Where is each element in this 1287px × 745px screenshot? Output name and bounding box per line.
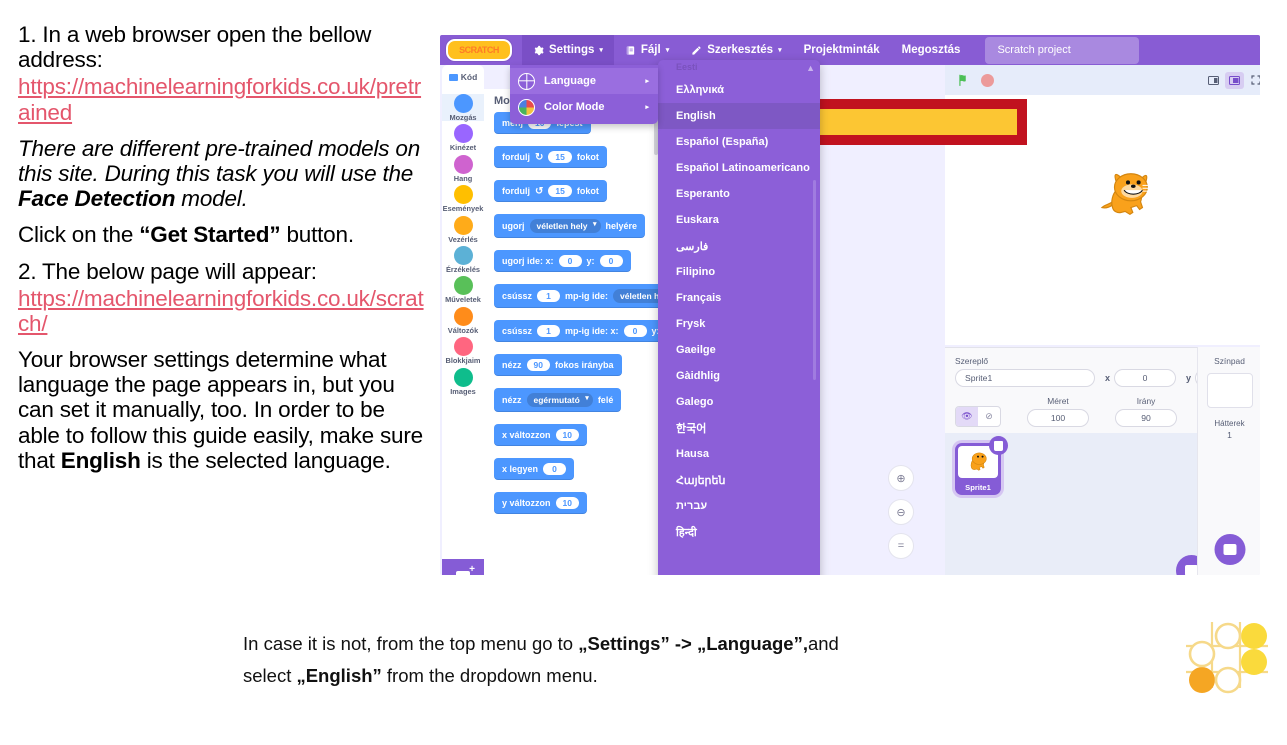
direction-label: Irány	[1137, 396, 1156, 406]
x-label: x	[1105, 373, 1110, 383]
motion-block[interactable]: ugorj ide: x:0y:0	[494, 250, 631, 272]
motion-block[interactable]: x változzon10	[494, 424, 587, 446]
category-color-dot	[454, 94, 473, 113]
language-item-[interactable]: हिन्दी	[658, 519, 820, 545]
zoom-in-icon[interactable]: ⊕	[888, 465, 914, 491]
language-item-filipino[interactable]: Filipino	[658, 259, 820, 285]
get-started-instruction: Click on the “Get Started” button.	[18, 222, 430, 247]
category-color-dot	[454, 185, 473, 204]
backdrops-count: 1	[1198, 430, 1260, 440]
sprite-name-row: Szereplő Sprite1 x 0 y 0	[945, 348, 1197, 387]
motion-block[interactable]: y változzon10	[494, 492, 587, 514]
block-dropdown[interactable]: véletlen hely	[530, 219, 601, 233]
category-label: Érzékelés	[442, 266, 484, 273]
color-wheel-icon	[518, 99, 535, 116]
size-label: Méret	[1047, 396, 1068, 406]
workspace-zoom-controls: ⊕⊖=	[888, 465, 914, 559]
sprite-card[interactable]: Sprite1	[955, 443, 1001, 495]
block-text: y:	[587, 256, 595, 266]
block-text: helyére	[606, 221, 638, 231]
block-text: fokos irányba	[555, 360, 614, 370]
cat-sprite[interactable]	[1099, 167, 1157, 223]
caption-english: „English”	[296, 665, 381, 686]
english-bold: English	[61, 448, 141, 473]
settings-dropdown: Language ▸ Color Mode ▸	[510, 65, 658, 124]
motion-block[interactable]: fordulj↻15fokot	[494, 146, 607, 168]
category-label: Műveletek	[442, 296, 484, 303]
motion-block[interactable]: fordulj↺15fokot	[494, 180, 607, 202]
rotate-icon: ↺	[535, 186, 543, 197]
sprite-size-input[interactable]: 100	[1027, 409, 1089, 427]
block-text: fordulj	[502, 186, 530, 196]
browser-post: is the selected language.	[141, 448, 391, 473]
block-text: ugorj ide: x:	[502, 256, 554, 266]
block-text: x változzon	[502, 430, 551, 440]
motion-block[interactable]: csússz1mp-ig ide:véletlen hely	[494, 284, 660, 308]
large-stage-icon[interactable]	[1225, 72, 1244, 89]
stop-icon[interactable]	[981, 74, 994, 87]
sprite-name-field-wrap: Szereplő Sprite1	[955, 356, 1095, 387]
green-flag-icon[interactable]	[957, 73, 971, 87]
sprite-visibility-toggle[interactable]: 👁 ⊘	[955, 406, 1001, 427]
sprite-direction-input[interactable]: 90	[1115, 409, 1177, 427]
backdrop-thumbnail[interactable]	[1207, 373, 1253, 408]
sprite-x-input[interactable]: 0	[1114, 369, 1176, 387]
language-item-[interactable]: Ελληνικά	[658, 77, 820, 103]
palette-block: csússz1mp-ig ide: x:0y:0	[484, 320, 660, 354]
sprite-attributes-row: 👁 ⊘ Méret 100 Irány 90	[945, 387, 1197, 427]
note-bold: Face Detection	[18, 186, 175, 211]
stage-panel-title: Színpad	[1198, 356, 1260, 366]
block-text: ugorj	[502, 221, 525, 231]
palette-block: csússz1mp-ig ide:véletlen hely	[484, 284, 660, 320]
block-dropdown[interactable]: véletlen hely	[613, 289, 660, 303]
category-color-dot	[454, 155, 473, 174]
block-number-input[interactable]: 15	[548, 151, 571, 163]
category-color-dot	[454, 368, 473, 387]
palette-block-list: menj10lépéstfordulj↻15fokotfordulj↺15fok…	[484, 112, 660, 526]
project-name-field[interactable]: Scratch project	[985, 37, 1139, 64]
sprite-size-wrap: Méret 100	[1027, 396, 1089, 427]
rotate-icon: ↻	[535, 152, 543, 163]
scratch-logo: SCRATCH	[446, 39, 512, 61]
language-item-[interactable]: Հայերեն	[658, 467, 820, 493]
note-post: model.	[175, 186, 247, 211]
language-list: ΕλληνικάEnglishEspañol (España)Español L…	[658, 73, 820, 545]
block-number-input[interactable]: 0	[559, 255, 582, 267]
category-label: Hang	[442, 175, 484, 182]
menu-templates-label: Projektminták	[804, 44, 880, 56]
language-item-euskara[interactable]: Euskara	[658, 207, 820, 233]
stage-selector-panel: Színpad Hátterek 1	[1197, 347, 1260, 575]
add-backdrop-button[interactable]	[1214, 534, 1245, 565]
language-item-fran-ais[interactable]: Français	[658, 285, 820, 311]
add-backdrop-icon	[1223, 544, 1236, 555]
category-label: Események	[442, 205, 484, 212]
caption-line1-pre: In case it is not, from the top menu go …	[243, 633, 578, 654]
block-text: y változzon	[502, 498, 551, 508]
language-item-[interactable]: فارسی	[658, 233, 820, 259]
palette-block: ugorjvéletlen helyhelyére	[484, 214, 660, 250]
palette-block: nézzegérmutatófelé	[484, 388, 660, 424]
gear-icon	[533, 45, 544, 56]
motion-block[interactable]: ugorjvéletlen helyhelyére	[494, 214, 645, 238]
motion-block[interactable]: x legyen0	[494, 458, 574, 480]
motion-block[interactable]: nézz90fokos irányba	[494, 354, 622, 376]
pretrained-link[interactable]: https://machinelearningforkids.co.uk/pre…	[18, 74, 430, 124]
block-number-input[interactable]: 1	[537, 290, 560, 302]
dropdown-color-mode-label: Color Mode	[544, 101, 605, 113]
block-category-kin-zet[interactable]: Kinézet	[442, 124, 484, 151]
category-label: Images	[442, 388, 484, 395]
instruction-column: 1. In a web browser open the bellow addr…	[18, 22, 430, 484]
block-text: csússz	[502, 326, 532, 336]
category-label: Blokkjaim	[442, 357, 484, 364]
block-text: fordulj	[502, 152, 530, 162]
scroll-up-icon[interactable]: ▲	[806, 63, 815, 73]
block-number-input[interactable]: 90	[527, 359, 550, 371]
menu-share-label: Megosztás	[902, 44, 961, 56]
category-color-dot	[454, 124, 473, 143]
note-pre: There are different pre-trained models o…	[18, 136, 420, 186]
language-item-esperanto[interactable]: Esperanto	[658, 181, 820, 207]
caption-line2-pre: select	[243, 665, 296, 686]
fullscreen-icon[interactable]	[1246, 72, 1260, 89]
block-category-mozg-s[interactable]: Mozgás	[442, 94, 484, 121]
browser-settings-note: Your browser settings determine what lan…	[18, 347, 430, 473]
language-item-hausa[interactable]: Hausa	[658, 441, 820, 467]
language-item-galego[interactable]: Galego	[658, 389, 820, 415]
category-color-dot	[454, 337, 473, 356]
caption-line1-post: and	[808, 633, 839, 654]
decorative-dots-logo	[1182, 620, 1278, 716]
menu-item-share[interactable]: Megosztás	[891, 35, 972, 65]
category-label: Vezérlés	[442, 236, 484, 243]
add-extension-icon	[456, 571, 470, 576]
block-category--rz-kel-s[interactable]: Érzékelés	[442, 246, 484, 273]
block-text: nézz	[502, 360, 522, 370]
block-text: fokot	[577, 186, 599, 196]
file-icon	[625, 45, 636, 56]
code-icon	[449, 74, 458, 81]
step-1-text: 1. In a web browser open the bellow addr…	[18, 22, 430, 72]
language-item-espa-ol-latinoamericano[interactable]: Español Latinoamericano	[658, 155, 820, 181]
block-category-hang[interactable]: Hang	[442, 155, 484, 182]
eye-visible-icon[interactable]: 👁	[956, 407, 978, 426]
block-category-esem-nyek[interactable]: Események	[442, 185, 484, 212]
block-category-column: MozgásKinézetHangEseményekVezérlésÉrzéke…	[442, 89, 484, 564]
block-text: csússz	[502, 291, 532, 301]
palette-block: y változzon10	[484, 492, 660, 526]
menu-edit-label: Szerkesztés	[707, 44, 773, 56]
category-color-dot	[454, 216, 473, 235]
trash-icon	[994, 441, 1003, 451]
block-number-input[interactable]: 10	[556, 497, 579, 509]
y-label: y	[1186, 373, 1191, 383]
stage-size-buttons	[1204, 72, 1260, 89]
get-started-label: “Get Started”	[139, 222, 280, 247]
block-number-input[interactable]: 0	[600, 255, 623, 267]
menu-settings-label: Settings	[549, 44, 594, 56]
menu-file-label: Fájl	[641, 44, 661, 56]
motion-block[interactable]: csússz1mp-ig ide: x:0y:0	[494, 320, 660, 342]
category-color-dot	[454, 307, 473, 326]
tab-code[interactable]: Kód	[442, 65, 484, 89]
add-extension-button[interactable]	[442, 559, 484, 575]
block-number-input[interactable]: 0	[624, 325, 647, 337]
category-color-dot	[454, 246, 473, 265]
scratch-link[interactable]: https://machinelearningforkids.co.uk/scr…	[18, 286, 430, 336]
category-color-dot	[454, 276, 473, 295]
sprite-x-wrap: x 0	[1105, 369, 1176, 387]
chevron-down-icon: ▾	[666, 47, 670, 54]
caption-line2-post: from the dropdown menu.	[382, 665, 598, 686]
block-number-input[interactable]: 10	[556, 429, 579, 441]
block-category-vez-rl-s[interactable]: Vezérlés	[442, 216, 484, 243]
category-label: Változók	[442, 327, 484, 334]
language-scrollbar[interactable]	[813, 180, 816, 380]
block-text: fokot	[577, 152, 599, 162]
scratch-editor-screenshot: SCRATCH Settings ▾ Fájl ▾ Szerkesztés ▾ …	[440, 35, 1260, 575]
palette-block: ugorj ide: x:0y:0	[484, 250, 660, 284]
pretrained-note: There are different pre-trained models o…	[18, 136, 430, 212]
sprite-name-input[interactable]: Sprite1	[955, 369, 1095, 387]
globe-icon	[518, 73, 535, 90]
sprite-info-panel: Szereplő Sprite1 x 0 y 0 👁 ⊘ Méret 100	[945, 347, 1197, 575]
language-item-clipped-top[interactable]: Eesti	[658, 60, 820, 73]
menu-item-settings[interactable]: Settings ▾	[522, 35, 614, 65]
block-text: felé	[598, 395, 614, 405]
dropdown-item-color-mode[interactable]: Color Mode ▸	[510, 94, 658, 120]
block-number-input[interactable]: 1	[537, 325, 560, 337]
palette-block: fordulj↺15fokot	[484, 180, 660, 214]
block-text: x legyen	[502, 464, 538, 474]
sprite-card-name: Sprite1	[955, 483, 1001, 492]
block-text: mp-ig ide: x:	[565, 326, 619, 336]
block-category-v-ltoz-k[interactable]: Változók	[442, 307, 484, 334]
click-pre: Click on the	[18, 222, 139, 247]
block-text: nézz	[502, 395, 522, 405]
motion-block[interactable]: nézzegérmutatófelé	[494, 388, 621, 412]
zoom-reset-icon[interactable]: =	[888, 533, 914, 559]
block-number-input[interactable]: 0	[543, 463, 566, 475]
palette-block: fordulj↻15fokot	[484, 146, 660, 180]
language-item-[interactable]: 한국어	[658, 415, 820, 441]
eye-hidden-icon[interactable]: ⊘	[978, 407, 1000, 426]
category-label: Mozgás	[442, 114, 484, 121]
chevron-right-icon: ▸	[645, 103, 649, 111]
zoom-out-icon[interactable]: ⊖	[888, 499, 914, 525]
chevron-down-icon: ▾	[599, 47, 603, 54]
block-category-blokkjaim[interactable]: Blokkjaim	[442, 337, 484, 364]
cat-thumbnail-icon	[965, 450, 991, 474]
language-item-frysk[interactable]: Frysk	[658, 311, 820, 337]
sprite-list: Sprite1	[945, 433, 1217, 575]
click-post: button.	[280, 222, 353, 247]
sprite-label: Szereplő	[955, 356, 1095, 366]
scratch-menu-bar: SCRATCH Settings ▾ Fájl ▾ Szerkesztés ▾ …	[440, 35, 1260, 65]
stage-control-bar	[945, 65, 1260, 95]
step-2-text: 2. The below page will appear:	[18, 259, 430, 284]
palette-block: x legyen0	[484, 458, 660, 492]
chevron-down-icon: ▾	[778, 47, 782, 54]
palette-block: x változzon10	[484, 424, 660, 458]
bottom-caption: In case it is not, from the top menu go …	[243, 628, 1113, 692]
chevron-right-icon: ▸	[645, 77, 649, 85]
palette-block: nézz90fokos irányba	[484, 354, 660, 388]
tab-code-label: Kód	[461, 72, 478, 82]
caption-settings-language: „Settings” -> „Language”,	[578, 633, 808, 654]
language-item-[interactable]: עברית	[658, 493, 820, 519]
language-submenu[interactable]: Eesti ▲ ΕλληνικάEnglishEspañol (España)E…	[658, 60, 820, 575]
pencil-icon	[691, 45, 702, 56]
delete-sprite-button[interactable]	[989, 436, 1008, 455]
backdrops-label: Hátterek	[1198, 419, 1260, 428]
sprite-direction-wrap: Irány 90	[1115, 396, 1177, 427]
block-number-input[interactable]: 15	[548, 185, 571, 197]
block-category-images[interactable]: Images	[442, 368, 484, 395]
block-dropdown[interactable]: egérmutató	[527, 393, 593, 407]
block-text: mp-ig ide:	[565, 291, 608, 301]
language-item-g-idhlig[interactable]: Gàidhlig	[658, 363, 820, 389]
dropdown-item-language[interactable]: Language ▸	[510, 68, 658, 94]
language-item-espa-ol-espa-a[interactable]: Español (España)	[658, 129, 820, 155]
stage-canvas[interactable]	[945, 95, 1260, 345]
dropdown-language-label: Language	[544, 75, 596, 87]
small-stage-icon[interactable]	[1204, 72, 1223, 89]
language-item-gaeilge[interactable]: Gaeilge	[658, 337, 820, 363]
category-label: Kinézet	[442, 144, 484, 151]
language-item-english[interactable]: English	[658, 103, 820, 129]
block-palette[interactable]: Mozgás menj10lépéstfordulj↻15fokotfordul…	[484, 89, 660, 575]
block-category-m-veletek[interactable]: Műveletek	[442, 276, 484, 303]
